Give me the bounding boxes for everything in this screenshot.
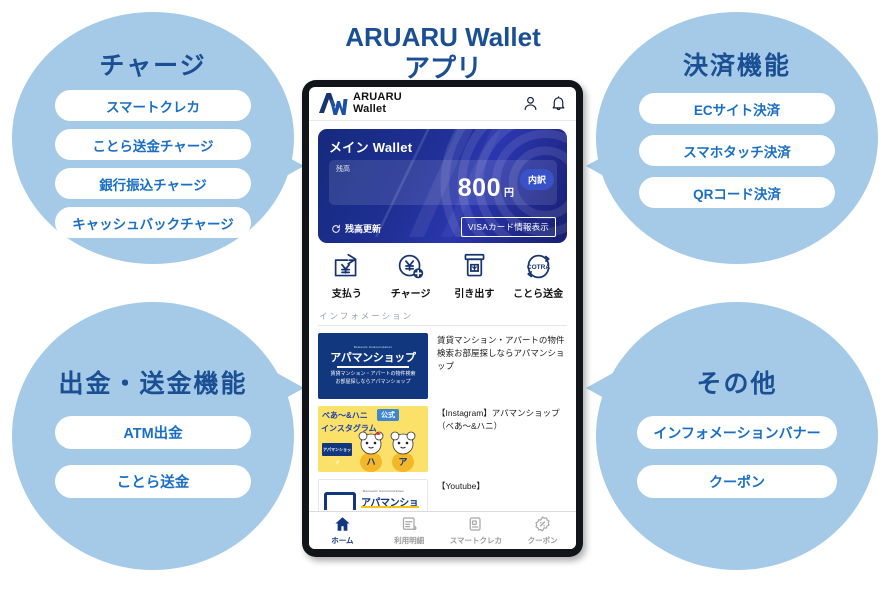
aruaru-wallet-logo-icon [318, 91, 348, 117]
callout-bubble-payment: 決済機能 ECサイト決済 スマホタッチ決済 QRコード決済 [596, 12, 878, 264]
svg-text:ア: ア [398, 457, 407, 467]
pill-other-1[interactable]: クーポン [637, 465, 837, 498]
information-item-instagram[interactable]: べあ～&ハニ インスタグラム 公式 アパマンショップ ハ [309, 399, 576, 472]
bubble-title-charge: チャージ [99, 46, 206, 82]
refresh-balance-button[interactable]: 残高更新 [331, 222, 381, 235]
refresh-balance-label: 残高更新 [345, 222, 381, 235]
app-brand-line2: Wallet [353, 104, 402, 116]
charge-yen-icon [395, 252, 426, 281]
nav-item-coupon[interactable]: クーポン [509, 515, 576, 546]
refresh-icon [331, 224, 341, 234]
quick-actions-row: 支払う チャージ [315, 252, 570, 300]
pill-payout-0[interactable]: ATM出金 [55, 416, 251, 449]
cotra-icon: COTRA [523, 252, 554, 281]
app-body[interactable]: メイン Wallet 残高 800 円 内訳 残高更新 VI [309, 121, 576, 511]
quick-action-pay[interactable]: 支払う [315, 252, 379, 300]
app-header: ARUARU Wallet [309, 87, 576, 121]
cotra-badge-text: COTRA [527, 264, 550, 271]
nav-item-smartcard-label: スマートクレカ [450, 535, 502, 546]
balance-label: 残高 [336, 164, 350, 174]
pill-payout-1[interactable]: ことら送金 [55, 465, 251, 498]
pill-payment-0[interactable]: ECサイト決済 [639, 93, 835, 124]
apaman-banner-caption-1: 賃貸マンション・アパートの物件検索 [331, 371, 416, 379]
page-title: ARUARU Wallet アプリ [293, 22, 593, 83]
quick-action-cotra[interactable]: COTRA ことら送金 [506, 252, 570, 300]
information-item-youtube-text: 【Youtube】 [437, 479, 485, 511]
quick-action-charge-label: チャージ [391, 285, 431, 300]
instagram-banner-chip-label: アパマンショップ [322, 443, 352, 469]
infographic-canvas: チャージ スマートクレカ ことら送金チャージ 銀行振込チャージ キャッシュバック… [0, 0, 886, 591]
home-icon [333, 515, 352, 533]
withdraw-atm-icon [459, 252, 490, 281]
youtube-apaman-banner-thumb[interactable]: Domestic Communication アパマンショップ [318, 479, 428, 511]
smartcard-icon [466, 515, 485, 533]
pill-charge-3[interactable]: キャッシュバックチャージ [55, 207, 251, 238]
account-icon[interactable] [522, 95, 539, 112]
quick-action-charge[interactable]: チャージ [379, 252, 443, 300]
nav-item-home-label: ホーム [331, 535, 353, 546]
coupon-icon [533, 515, 552, 533]
youtube-banner-small-text: Domestic Communication [363, 489, 404, 493]
bubble-title-other: その他 [696, 364, 777, 400]
receipt-icon [400, 515, 419, 533]
wallet-card[interactable]: メイン Wallet 残高 800 円 内訳 残高更新 VI [318, 129, 567, 243]
youtube-banner-brand: アパマンショップ [361, 494, 427, 511]
nav-item-statement[interactable]: 利用明細 [376, 515, 443, 546]
callout-bubble-payout: 出金・送金機能 ATM出金 ことら送金 [12, 302, 294, 570]
mascot-bear-icon: ア [388, 430, 418, 472]
apaman-banner-caption-2: お部屋探しならアパマンショップ [336, 379, 411, 387]
balance-panel: 残高 800 円 内訳 [329, 160, 557, 205]
pill-payment-1[interactable]: スマホタッチ決済 [639, 135, 835, 166]
breakdown-button[interactable]: 内訳 [520, 169, 554, 190]
phone-mockup: ARUARU Wallet [302, 80, 583, 557]
quick-action-withdraw-label: 引き出す [454, 285, 494, 300]
instagram-mascot-banner-thumb[interactable]: べあ～&ハニ インスタグラム 公式 アパマンショップ ハ [318, 406, 428, 472]
instagram-banner-title-1: べあ～&ハニ [322, 410, 368, 421]
quick-action-cotra-label: ことら送金 [513, 285, 563, 300]
quick-action-pay-label: 支払う [332, 285, 362, 300]
apaman-shop-banner-thumb[interactable]: Domestic Communication アパマンショップ 賃貸マンション・… [318, 333, 428, 399]
apaman-banner-brand: アパマンショップ [330, 349, 415, 365]
pill-charge-1[interactable]: ことら送金チャージ [55, 129, 251, 160]
nav-item-smartcard[interactable]: スマートクレカ [443, 515, 510, 546]
youtube-banner-shape [324, 492, 356, 510]
balance-amount: 800 [458, 176, 501, 201]
callout-bubble-other: その他 インフォメーションバナー クーポン [596, 302, 878, 570]
phone-screen: ARUARU Wallet [309, 87, 576, 549]
bottom-navigation: ホーム 利用明細 スマートクレカ [309, 511, 576, 549]
balance-unit: 円 [504, 184, 514, 199]
pill-charge-0[interactable]: スマートクレカ [55, 90, 251, 121]
pill-payment-2[interactable]: QRコード決済 [639, 177, 835, 208]
nav-item-statement-label: 利用明細 [394, 535, 424, 546]
app-brand: ARUARU Wallet [353, 92, 402, 116]
app-brand-line1: ARUARU [353, 92, 402, 104]
nav-item-coupon-label: クーポン [528, 535, 558, 546]
information-item-apaman[interactable]: Domestic Communication アパマンショップ 賃貸マンション・… [309, 326, 576, 399]
information-item-youtube[interactable]: Domestic Communication アパマンショップ 【Youtube… [309, 472, 576, 511]
nav-item-home[interactable]: ホーム [309, 515, 376, 546]
pill-charge-2[interactable]: 銀行振込チャージ [55, 168, 251, 199]
information-item-apaman-text: 賃貸マンション・アパートの物件検索お部屋探しならアパマンショップ [437, 333, 567, 399]
bubble-title-payout: 出金・送金機能 [58, 364, 247, 400]
youtube-banner-rule [361, 506, 419, 508]
bell-icon[interactable] [550, 95, 567, 112]
apaman-banner-rule [337, 366, 409, 368]
information-item-instagram-text: 【Instagram】アパマンショップ（べあ～&ハニ） [437, 406, 567, 472]
pill-other-0[interactable]: インフォメーションバナー [637, 416, 837, 449]
page-title-line1: ARUARU Wallet [293, 22, 593, 53]
instagram-banner-badge: 公式 [377, 409, 399, 421]
bubble-title-payment: 決済機能 [683, 46, 791, 82]
mascot-hani-icon: ハ [356, 430, 386, 472]
visa-card-info-button[interactable]: VISAカード情報表示 [461, 217, 556, 237]
instagram-banner-chip: アパマンショップ [322, 443, 352, 456]
quick-action-withdraw[interactable]: 引き出す [443, 252, 507, 300]
wallet-card-title: メイン Wallet [329, 137, 412, 156]
callout-bubble-charge: チャージ スマートクレカ ことら送金チャージ 銀行振込チャージ キャッシュバック… [12, 12, 294, 264]
pay-yen-icon [331, 252, 362, 281]
information-heading: インフォメーション [319, 310, 576, 322]
svg-text:ハ: ハ [366, 457, 375, 467]
page-title-line2: アプリ [293, 53, 593, 84]
